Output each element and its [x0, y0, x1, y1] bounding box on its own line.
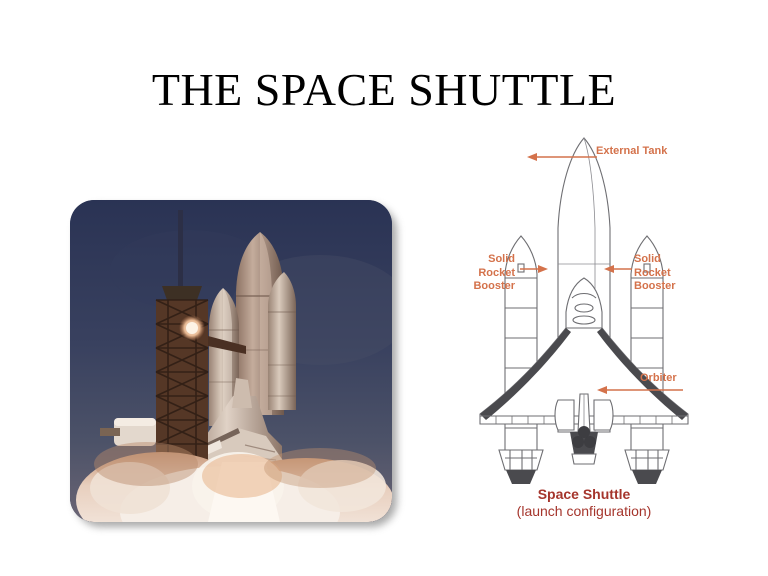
srb-label-line-3: Booster [473, 280, 515, 292]
external-tank-arrow-icon [527, 152, 597, 162]
page-title: THE SPACE SHUTTLE [0, 66, 768, 114]
srb-label-line-2: Rocket [478, 267, 515, 279]
diagram-label-solid-rocket-booster-left: Solid Rocket Booster [0, 253, 515, 294]
diagram-label-solid-rocket-booster-right: Solid Rocket Booster [634, 253, 676, 294]
diagram-label-orbiter: Orbiter [640, 372, 677, 386]
diagram-caption-subtitle: (launch configuration) [466, 503, 702, 520]
diagram-label-external-tank: External Tank [596, 145, 667, 159]
srb-label-line-1: Solid [634, 253, 661, 265]
shuttle-launch-configuration-diagram: .ln { fill:none; stroke:#6e6e72; stroke-… [466, 132, 702, 492]
srb-label-line-3: Booster [634, 280, 676, 292]
solid-rocket-booster-right-arrow-icon [604, 264, 632, 274]
srb-label-line-2: Rocket [634, 267, 671, 279]
space-shuttle-launch-photograph [70, 200, 392, 522]
solid-rocket-booster-left-arrow-icon [520, 264, 548, 274]
launch-photo-container [70, 200, 392, 522]
diagram-caption: Space Shuttle (launch configuration) [466, 486, 702, 520]
diagram-caption-title: Space Shuttle [466, 486, 702, 503]
srb-label-line-1: Solid [488, 253, 515, 265]
orbiter-arrow-icon [597, 385, 683, 395]
